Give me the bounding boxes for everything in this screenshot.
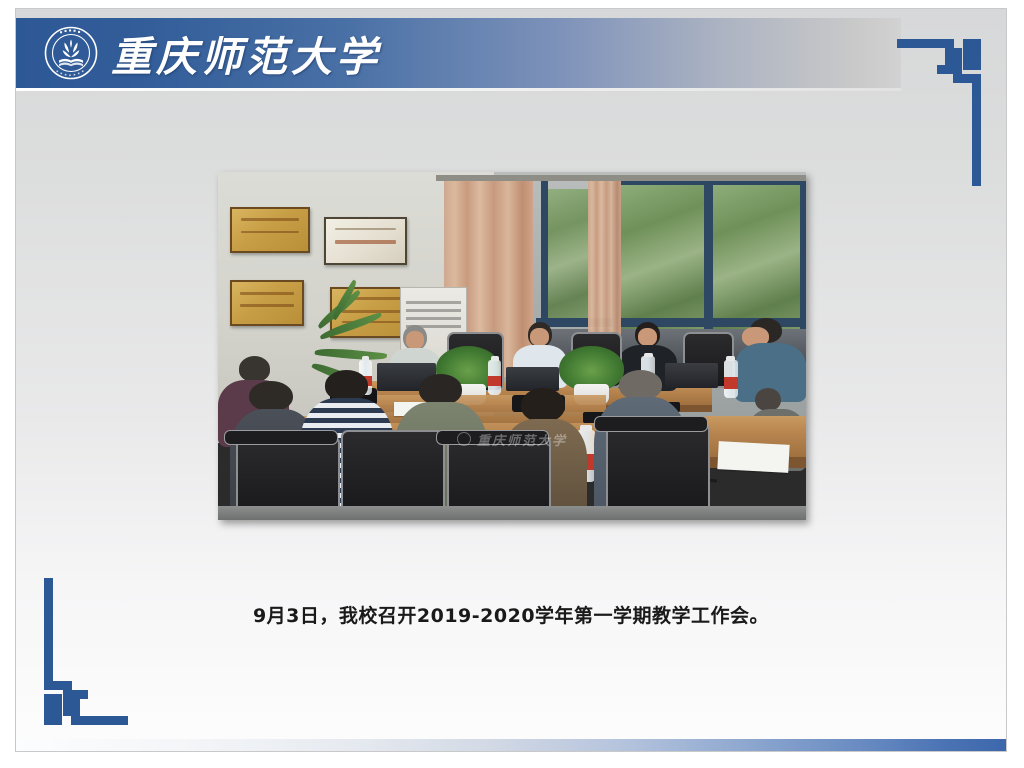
corner-ornament-bottom-left	[33, 573, 128, 733]
window-mullion	[704, 179, 713, 332]
floor	[218, 506, 806, 520]
window-mullion	[800, 179, 806, 332]
curtain	[588, 175, 620, 335]
header-underline	[16, 88, 901, 91]
water-bottle	[724, 360, 738, 398]
university-name: 重庆师范大学	[111, 25, 381, 81]
window-glass	[618, 182, 706, 328]
chair	[236, 436, 340, 517]
chair-arm	[436, 430, 550, 446]
corner-ornament-top-right	[897, 31, 992, 191]
chair	[606, 423, 710, 514]
meeting-photo: 重庆师范大学	[218, 172, 806, 520]
photo-caption: 9月3日，我校召开2019-2020学年第一学期教学工作会。	[16, 601, 1006, 628]
chair-arm	[594, 416, 708, 432]
chair	[341, 430, 445, 518]
presentation-slide: 重庆师范大学	[15, 8, 1007, 752]
university-seal-icon	[44, 26, 98, 80]
document	[717, 442, 789, 473]
window-mullion	[541, 179, 548, 325]
wall-plaque	[324, 217, 407, 265]
curtain-rod	[436, 175, 806, 181]
chair-arm	[224, 430, 338, 446]
bottom-gradient-inner	[16, 751, 1006, 752]
window-glass	[544, 189, 591, 321]
bottom-gradient-band	[16, 739, 1006, 752]
wall-plaque	[230, 280, 305, 326]
wall-plaque	[230, 207, 310, 253]
window-glass	[712, 182, 806, 328]
